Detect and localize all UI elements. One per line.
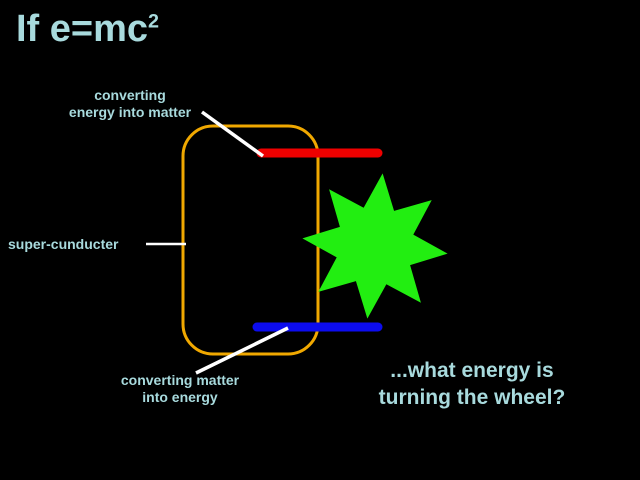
annotation-converting-energy-into-matter: converting energy into matter [30,87,230,121]
slide-canvas: If e=mc2 converting energy into matter s… [0,0,640,480]
question-text: ...what energy is turning the wheel? [336,357,608,411]
super-conductor-loop [183,126,318,354]
title-text: If e=mc [16,8,148,50]
annotation-converting-matter-into-energy: converting matter into energy [80,372,280,406]
title-exponent: 2 [148,10,159,32]
annotation-super-conductor: super-cunducter [8,236,144,253]
page-title: If e=mc2 [16,10,159,48]
leader-bottom-icon [196,328,288,373]
